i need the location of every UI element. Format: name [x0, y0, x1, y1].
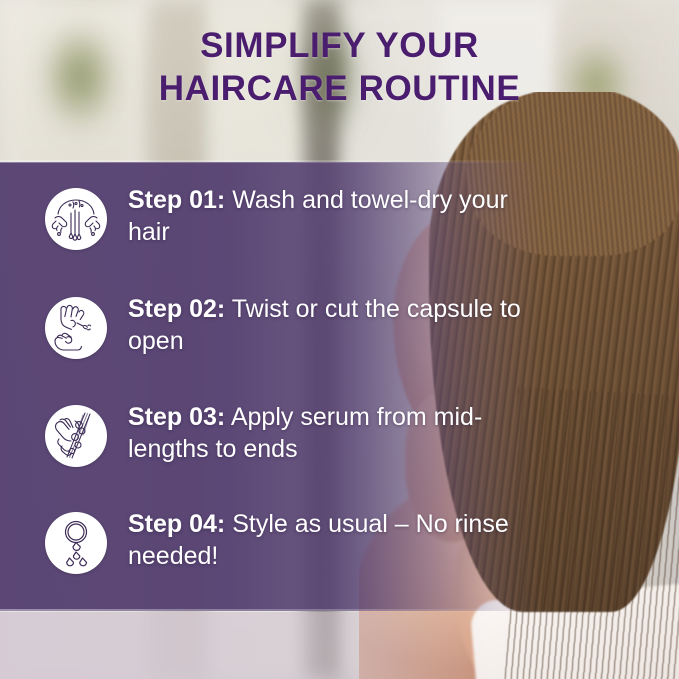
- step-text-3: Step 03: Apply serum from mid-lengths to…: [128, 401, 548, 465]
- page-title-line-2: HAIRCARE ROUTINE: [0, 67, 679, 110]
- step-label-3: Step 03:: [128, 403, 225, 431]
- hands-washing-hair-icon: [45, 188, 107, 250]
- dropper-with-droplets-icon: [45, 512, 107, 574]
- band-top-edge: [0, 160, 679, 163]
- step-text-1: Step 01: Wash and towel-dry your hair: [128, 184, 548, 248]
- step-label-4: Step 04:: [128, 510, 225, 538]
- footer-wash: [0, 612, 679, 679]
- hands-twisting-capsule-icon: [45, 297, 107, 359]
- hand-applying-serum-to-hair-icon: [45, 405, 107, 467]
- step-text-4: Step 04: Style as usual – No rinse neede…: [128, 508, 548, 572]
- page-title-line-1: SIMPLIFY YOUR: [200, 26, 479, 65]
- step-text-2: Step 02: Twist or cut the capsule to ope…: [128, 293, 548, 357]
- page-title: SIMPLIFY YOUR HAIRCARE ROUTINE: [0, 24, 679, 110]
- step-label-1: Step 01:: [128, 186, 225, 214]
- step-label-2: Step 02:: [128, 295, 225, 323]
- infographic-canvas: SIMPLIFY YOUR HAIRCARE ROUTINE: [0, 0, 679, 679]
